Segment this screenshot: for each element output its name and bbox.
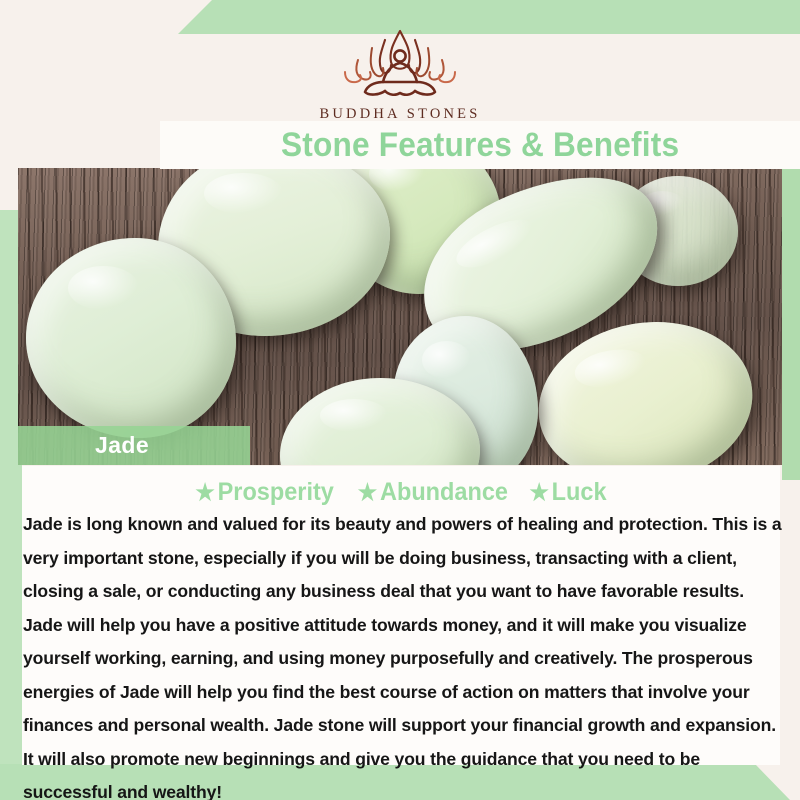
page-title: Stone Features & Benefits [281,126,679,165]
brand-wordmark: BUDDHA STONES [0,106,800,123]
stone-photo [18,168,782,465]
lotus-meditation-icon [325,24,475,102]
benefit-item-abundance: ★Abundance [358,478,508,507]
benefit-item-prosperity: ★Prosperity [195,478,333,507]
brand-logo: BUDDHA STONES [0,24,800,123]
benefit-item-luck: ★Luck [529,478,606,507]
star-icon: ★ [358,479,377,505]
star-icon: ★ [529,479,548,505]
benefits-row: ★Prosperity ★Abundance ★Luck [0,478,800,507]
benefit-label: Abundance [380,478,508,506]
stone-shape [26,238,236,438]
benefit-label: Luck [552,478,607,506]
star-icon: ★ [195,479,214,505]
infographic-canvas: BUDDHA STONES Stone Features & Benefits … [0,0,800,800]
benefit-label: Prosperity [218,478,334,506]
decorative-strip-right [782,150,800,480]
stone-name-band: Jade [18,426,250,465]
stone-description: Jade is long known and valued for its be… [23,508,783,800]
title-banner: Stone Features & Benefits [160,121,800,169]
stone-name-label: Jade [95,432,149,459]
